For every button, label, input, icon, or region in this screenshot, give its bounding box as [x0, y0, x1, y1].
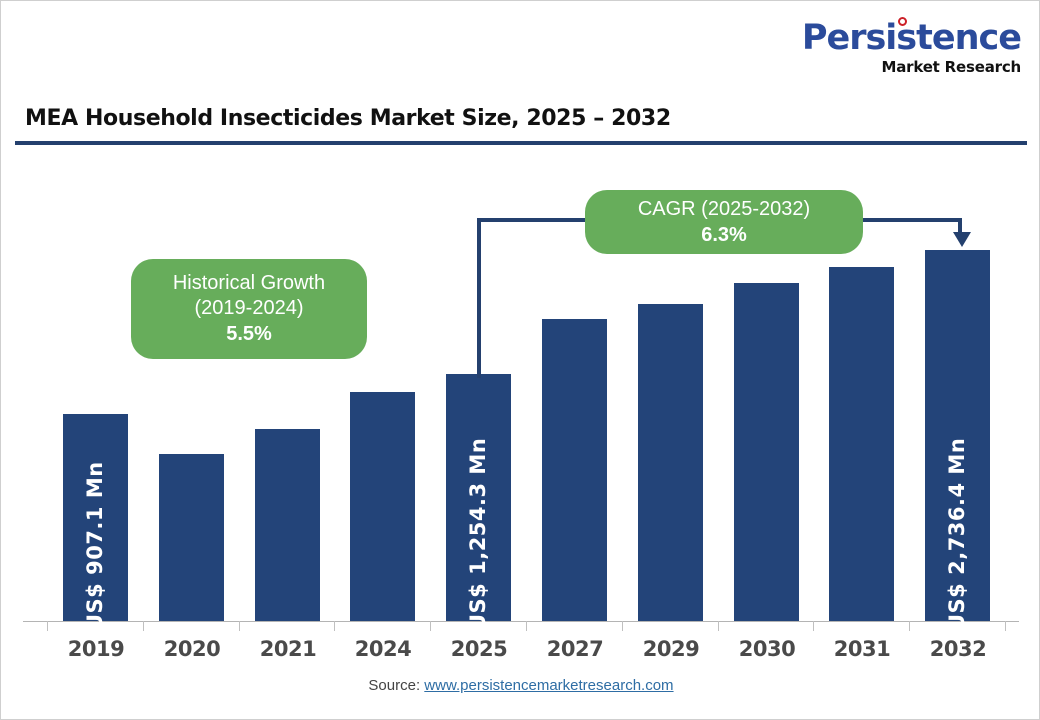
historical-growth-line1: Historical Growth	[173, 271, 325, 296]
x-axis-label-2030: 2030	[719, 637, 815, 661]
x-axis-tick-2019	[47, 621, 48, 631]
bar-2024[interactable]	[350, 392, 415, 621]
cagr-value: 6.3%	[701, 223, 747, 248]
bar-2030[interactable]	[734, 283, 799, 621]
bar-2021[interactable]	[255, 429, 320, 621]
x-axis-tick-2025	[430, 621, 431, 631]
x-axis-label-2031: 2031	[814, 637, 910, 661]
bar-2029[interactable]	[638, 304, 703, 621]
x-axis-tick-2031	[813, 621, 814, 631]
bar-2032[interactable]	[925, 250, 990, 621]
x-axis-tick-2024	[334, 621, 335, 631]
source-link[interactable]: www.persistencemarketresearch.com	[424, 677, 673, 694]
x-axis-tick-2020	[143, 621, 144, 631]
x-axis-tick-end	[1005, 621, 1006, 631]
x-axis-tick-2027	[526, 621, 527, 631]
cagr-connector-left-vertical	[477, 218, 481, 378]
historical-growth-line2: (2019-2024)	[195, 296, 304, 321]
x-axis-label-2032: 2032	[910, 637, 1006, 661]
bar-2019[interactable]	[63, 414, 128, 621]
x-axis-tick-2030	[718, 621, 719, 631]
source-line: Source: www.persistencemarketresearch.co…	[1, 677, 1040, 694]
x-axis-label-2025: 2025	[431, 637, 527, 661]
x-axis-label-2019: 2019	[48, 637, 144, 661]
x-axis-tick-2032	[909, 621, 910, 631]
cagr-line1: CAGR (2025-2032)	[638, 197, 810, 222]
x-axis-label-2021: 2021	[240, 637, 336, 661]
x-axis-line	[23, 621, 1019, 622]
x-axis-tick-2029	[622, 621, 623, 631]
historical-growth-value: 5.5%	[226, 322, 272, 347]
chart-canvas: Persistence Market Research MEA Househol…	[0, 0, 1040, 720]
bar-2027[interactable]	[542, 319, 607, 621]
x-axis-label-2027: 2027	[527, 637, 623, 661]
bar-chart-plot: US$ 907.1 Mn2019202020212024US$ 1,254.3 …	[1, 1, 1040, 720]
bar-2020[interactable]	[159, 454, 224, 621]
historical-growth-callout: Historical Growth (2019-2024) 5.5%	[131, 259, 367, 359]
cagr-arrow-icon	[951, 229, 973, 249]
cagr-callout: CAGR (2025-2032) 6.3%	[585, 190, 863, 254]
bar-2031[interactable]	[829, 267, 894, 621]
x-axis-label-2029: 2029	[623, 637, 719, 661]
bar-2025[interactable]	[446, 374, 511, 621]
source-prefix: Source:	[368, 677, 420, 694]
x-axis-tick-2021	[239, 621, 240, 631]
x-axis-label-2020: 2020	[144, 637, 240, 661]
x-axis-label-2024: 2024	[335, 637, 431, 661]
